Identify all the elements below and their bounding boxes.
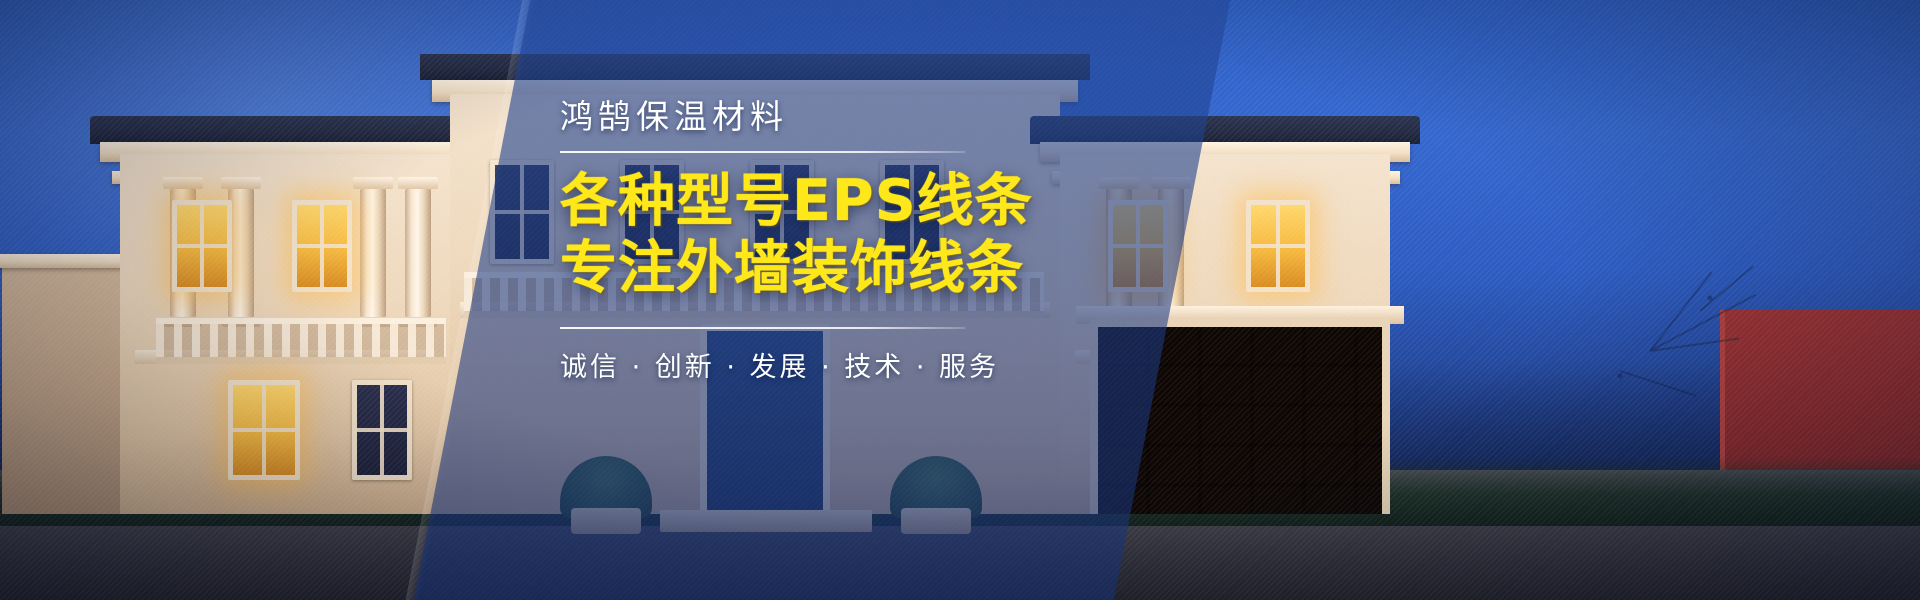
balustrade xyxy=(156,318,446,364)
left-wing-roof xyxy=(90,116,480,144)
window-lit xyxy=(228,380,300,480)
window-lit xyxy=(172,200,232,292)
planter xyxy=(571,508,641,534)
column xyxy=(360,188,386,318)
divider-bottom xyxy=(560,327,965,329)
window-lit xyxy=(1246,200,1310,292)
window-lit xyxy=(1108,200,1168,292)
headline-line-2: 专注外墙装饰线条 xyxy=(560,236,1040,301)
planter xyxy=(901,508,971,534)
banner-copy: 鸿鹄保温材料 各种型号EPS线条 专注外墙装饰线条 诚信 · 创新 · 发展 ·… xyxy=(560,96,1040,384)
right-wing-roof xyxy=(1030,116,1420,144)
window-lit xyxy=(292,200,352,292)
brand-name: 鸿鹄保温材料 xyxy=(560,96,1040,137)
window xyxy=(490,160,554,264)
outbuilding-body xyxy=(2,264,132,514)
window xyxy=(352,380,412,480)
headline-line-1: 各种型号EPS线条 xyxy=(560,169,1040,234)
hero-banner: 鸿鹄保温材料 各种型号EPS线条 专注外墙装饰线条 诚信 · 创新 · 发展 ·… xyxy=(0,0,1920,600)
column xyxy=(405,188,431,318)
center-roof xyxy=(420,54,1090,80)
garage-door xyxy=(1090,319,1390,514)
outbuilding-cornice xyxy=(0,254,138,268)
tagline: 诚信 · 创新 · 发展 · 技术 · 服务 xyxy=(560,345,1040,384)
divider-top xyxy=(560,151,965,153)
entry-steps xyxy=(660,510,872,532)
tagline-block: 诚信 · 创新 · 发展 · 技术 · 服务 xyxy=(560,327,1040,384)
